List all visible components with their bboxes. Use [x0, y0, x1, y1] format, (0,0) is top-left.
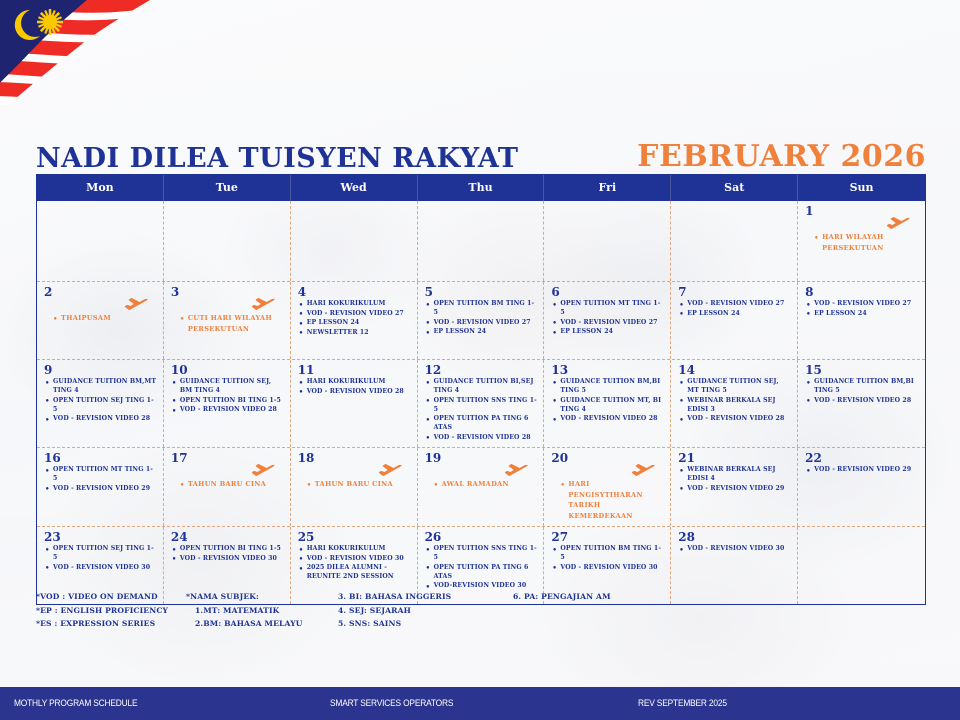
event-item: VOD - REVISION VIDEO 28: [805, 397, 919, 406]
event-list: GUIDANCE TUITION BI,SEJ TING 4OPEN TUITI…: [425, 378, 538, 442]
event-item: EP LESSON 24: [551, 328, 664, 337]
legend-line: *ES : EXPRESSION SERIES: [36, 617, 186, 631]
day-of-week-header-row: Mon Tue Wed Thu Fri Sat Sun: [37, 175, 925, 201]
event-item: TAHUN BARU CINA: [306, 479, 411, 490]
event-item: VOD - REVISION VIDEO 30: [551, 564, 664, 573]
event-item: CUTI HARI WILAYAH PERSEKUTUAN: [179, 313, 284, 334]
event-item: HARI KOKURIKULUM: [298, 300, 411, 309]
page-title: NADI DILEA TUISYEN RAKYAT: [36, 145, 518, 172]
event-item: EP LESSON 24: [805, 310, 919, 319]
day-number: 12: [425, 364, 538, 377]
event-item: VOD - REVISION VIDEO 28: [551, 415, 664, 424]
event-item: NEWSLETTER 12: [298, 329, 411, 338]
calendar-grid: Mon Tue Wed Thu Fri Sat Sun 1HARI WILAYA…: [36, 174, 926, 605]
event-item: VOD - REVISION VIDEO 30: [44, 564, 157, 573]
legend-column-subjects-c: 6. PA: PENGAJIAN AM: [513, 590, 713, 631]
event-item: VOD - REVISION VIDEO 30: [678, 545, 791, 554]
event-item: VOD - REVISION VIDEO 27: [425, 319, 538, 328]
event-item: VOD - REVISION VIDEO 29: [678, 485, 791, 494]
calendar-day-cell-19[interactable]: 19AWAL RAMADAN: [418, 448, 545, 526]
day-number: 28: [678, 531, 791, 544]
event-list: GUIDANCE TUITION BM,MT TING 4OPEN TUITIO…: [44, 378, 157, 424]
event-item: OPEN TUITION SEJ TING 1-5: [44, 545, 157, 563]
event-list: GUIDANCE TUITION SEJ, BM TING 4OPEN TUIT…: [171, 378, 284, 415]
calendar-day-cell-empty[interactable]: [418, 201, 545, 281]
event-item: VOD - REVISION VIDEO 28: [44, 415, 157, 424]
calendar-day-cell-21[interactable]: 21WEBINAR BERKALA SEJ EDISI 4VOD - REVIS…: [671, 448, 798, 526]
day-number: 23: [44, 531, 157, 544]
legend-line: 3. BI: BAHASA INGGERIS: [338, 590, 513, 604]
calendar-day-cell-16[interactable]: 16OPEN TUITION MT TING 1-5VOD - REVISION…: [37, 448, 164, 526]
calendar-day-cell-empty[interactable]: [544, 201, 671, 281]
event-item: HARI KOKURIKULUM: [298, 545, 411, 554]
calendar-day-cell-17[interactable]: 17TAHUN BARU CINA: [164, 448, 291, 526]
event-list: OPEN TUITION MT TING 1-5VOD - REVISION V…: [551, 300, 664, 337]
day-number: 11: [298, 364, 411, 377]
event-item: GUIDANCE TUITION BI,SEJ TING 4: [425, 378, 538, 396]
event-list: OPEN TUITION SNS TING 1-5OPEN TUITION PA…: [425, 545, 538, 591]
legend-column-subjects-a: *NAMA SUBJEK: 1.MT: MATEMATIK 2.BM: BAHA…: [186, 590, 338, 631]
event-list: AWAL RAMADAN: [425, 479, 538, 490]
event-list: WEBINAR BERKALA SEJ EDISI 4VOD - REVISIO…: [678, 466, 791, 493]
month-year-title: FEBRUARY 2026: [637, 142, 926, 172]
day-number: 5: [425, 286, 538, 299]
calendar-day-cell-11[interactable]: 11HARI KOKURIKULUMVOD - REVISION VIDEO 2…: [291, 360, 418, 447]
event-item: VOD - REVISION VIDEO 29: [805, 466, 919, 475]
event-item: VOD - REVISION VIDEO 27: [805, 300, 919, 309]
event-item: OPEN TUITION BI TING 1-5: [171, 397, 284, 406]
event-item: THAIPUSAM: [52, 313, 157, 324]
calendar-day-cell-empty[interactable]: [291, 201, 418, 281]
calendar-day-cell-8[interactable]: 8VOD - REVISION VIDEO 27EP LESSON 24: [798, 282, 925, 359]
event-list: GUIDANCE TUITION SEJ, MT TING 5WEBINAR B…: [678, 378, 791, 424]
calendar-day-cell-1[interactable]: 1HARI WILAYAH PERSEKUTUAN: [798, 201, 925, 281]
event-item: HARI PENGISYTIHARAN TARIKH KEMERDEKAAN: [559, 479, 664, 521]
calendar-day-cell-13[interactable]: 13GUIDANCE TUITION BM,BI TING 5GUIDANCE …: [544, 360, 671, 447]
day-number: 24: [171, 531, 284, 544]
day-number: 9: [44, 364, 157, 377]
calendar-day-cell-18[interactable]: 18TAHUN BARU CINA: [291, 448, 418, 526]
legend-column-subjects-b: 3. BI: BAHASA INGGERIS 4. SEJ: SEJARAH 5…: [338, 590, 513, 631]
day-header-thu: Thu: [418, 175, 545, 201]
event-item: GUIDANCE TUITION BM,BI TING 5: [551, 378, 664, 396]
day-number: 16: [44, 452, 157, 465]
event-item: VOD - REVISION VIDEO 27: [298, 310, 411, 319]
event-list: GUIDANCE TUITION BM,BI TING 5VOD - REVIS…: [805, 378, 919, 405]
day-header-sun: Sun: [798, 175, 925, 201]
calendar-week-row: 2THAIPUSAM3CUTI HARI WILAYAH PERSEKUTUAN…: [37, 281, 925, 359]
event-list: OPEN TUITION BM TING 1-5VOD - REVISION V…: [551, 545, 664, 572]
calendar-weeks: 1HARI WILAYAH PERSEKUTUAN2THAIPUSAM3CUTI…: [37, 201, 925, 604]
calendar-day-cell-empty[interactable]: [164, 201, 291, 281]
event-item: HARI WILAYAH PERSEKUTUAN: [813, 232, 919, 253]
day-header-tue: Tue: [164, 175, 291, 201]
calendar-day-cell-empty[interactable]: [37, 201, 164, 281]
day-number: 21: [678, 452, 791, 465]
event-item: WEBINAR BERKALA SEJ EDISI 3: [678, 397, 791, 415]
airplane-icon: [250, 294, 276, 314]
day-number: 10: [171, 364, 284, 377]
event-list: VOD - REVISION VIDEO 27EP LESSON 24: [805, 300, 919, 318]
event-list: VOD - REVISION VIDEO 30: [678, 545, 791, 554]
event-item: VOD - REVISION VIDEO 28: [298, 388, 411, 397]
day-number: 14: [678, 364, 791, 377]
event-item: GUIDANCE TUITION MT, BI TING 4: [551, 397, 664, 415]
event-item: VOD - REVISION VIDEO 30: [298, 555, 411, 564]
airplane-icon: [503, 460, 529, 480]
day-number: 13: [551, 364, 664, 377]
event-item: OPEN TUITION BM TING 1-5: [425, 300, 538, 318]
event-item: OPEN TUITION MT TING 1-5: [551, 300, 664, 318]
calendar-day-cell-3[interactable]: 3CUTI HARI WILAYAH PERSEKUTUAN: [164, 282, 291, 359]
event-list: VOD - REVISION VIDEO 27EP LESSON 24: [678, 300, 791, 318]
event-list: OPEN TUITION MT TING 1-5VOD - REVISION V…: [44, 466, 157, 493]
event-item: GUIDANCE TUITION SEJ, BM TING 4: [171, 378, 284, 396]
event-list: GUIDANCE TUITION BM,BI TING 5GUIDANCE TU…: [551, 378, 664, 424]
event-item: 2025 DILEA ALUMNI - REUNITE 2ND SESSION: [298, 564, 411, 582]
calendar-week-row: 1HARI WILAYAH PERSEKUTUAN: [37, 201, 925, 281]
day-number: 7: [678, 286, 791, 299]
event-item: VOD - REVISION VIDEO 30: [171, 555, 284, 564]
event-item: HARI KOKURIKULUM: [298, 378, 411, 387]
event-list: VOD - REVISION VIDEO 29: [805, 466, 919, 475]
footer-right-label: REV SEPTEMBER 2025: [638, 698, 727, 709]
calendar-day-cell-20[interactable]: 20HARI PENGISYTIHARAN TARIKH KEMERDEKAAN: [544, 448, 671, 526]
airplane-icon: [250, 460, 276, 480]
event-list: OPEN TUITION SEJ TING 1-5VOD - REVISION …: [44, 545, 157, 572]
event-item: OPEN TUITION PA TING 6 ATAS: [425, 415, 538, 433]
event-list: THAIPUSAM: [44, 313, 157, 324]
calendar-header: NADI DILEA TUISYEN RAKYAT FEBRUARY 2026: [36, 132, 926, 172]
event-item: OPEN TUITION PA TING 6 ATAS: [425, 564, 538, 582]
malaysia-flag: [0, 0, 190, 105]
legend-line: *NAMA SUBJEK:: [186, 590, 338, 604]
day-number: 27: [551, 531, 664, 544]
calendar-week-row: 9GUIDANCE TUITION BM,MT TING 4OPEN TUITI…: [37, 359, 925, 447]
legend: *VOD : VIDEO ON DEMAND *EP : ENGLISH PRO…: [36, 590, 926, 631]
event-item: GUIDANCE TUITION BM,BI TING 5: [805, 378, 919, 396]
legend-line: *EP : ENGLISH PROFICIENCY: [36, 604, 186, 618]
event-item: OPEN TUITION BM TING 1-5: [551, 545, 664, 563]
event-item: OPEN TUITION SNS TING 1-5: [425, 545, 538, 563]
event-item: GUIDANCE TUITION BM,MT TING 4: [44, 378, 157, 396]
day-number: 22: [805, 452, 919, 465]
event-list: TAHUN BARU CINA: [298, 479, 411, 490]
day-number: 4: [298, 286, 411, 299]
legend-line: 5. SNS: SAINS: [338, 617, 513, 631]
day-number: 26: [425, 531, 538, 544]
legend-line: *VOD : VIDEO ON DEMAND: [36, 590, 186, 604]
footer-center-label: SMART SERVICES OPERATORS: [330, 698, 453, 709]
calendar-page: NADI DILEA TUISYEN RAKYAT FEBRUARY 2026 …: [0, 0, 960, 720]
event-list: OPEN TUITION BM TING 1-5VOD - REVISION V…: [425, 300, 538, 337]
calendar-day-cell-5[interactable]: 5OPEN TUITION BM TING 1-5VOD - REVISION …: [418, 282, 545, 359]
event-list: HARI KOKURIKULUMVOD - REVISION VIDEO 302…: [298, 545, 411, 582]
event-item: VOD - REVISION VIDEO 29: [44, 485, 157, 494]
day-header-mon: Mon: [37, 175, 164, 201]
event-list: CUTI HARI WILAYAH PERSEKUTUAN: [171, 313, 284, 334]
calendar-day-cell-6[interactable]: 6OPEN TUITION MT TING 1-5VOD - REVISION …: [544, 282, 671, 359]
event-item: VOD - REVISION VIDEO 27: [551, 319, 664, 328]
calendar-day-cell-4[interactable]: 4HARI KOKURIKULUMVOD - REVISION VIDEO 27…: [291, 282, 418, 359]
event-item: TAHUN BARU CINA: [179, 479, 284, 490]
event-list: HARI KOKURIKULUMVOD - REVISION VIDEO 27E…: [298, 300, 411, 337]
day-number: 6: [551, 286, 664, 299]
calendar-day-cell-15[interactable]: 15GUIDANCE TUITION BM,BI TING 5VOD - REV…: [798, 360, 925, 447]
footer-left-label: MOTHLY PROGRAM SCHEDULE: [14, 698, 137, 709]
event-item: VOD - REVISION VIDEO 28: [425, 434, 538, 443]
calendar-day-cell-10[interactable]: 10GUIDANCE TUITION SEJ, BM TING 4OPEN TU…: [164, 360, 291, 447]
event-item: VOD - REVISION VIDEO 28: [678, 415, 791, 424]
footer-bar: MOTHLY PROGRAM SCHEDULE SMART SERVICES O…: [0, 687, 960, 720]
event-item: WEBINAR BERKALA SEJ EDISI 4: [678, 466, 791, 484]
calendar-week-row: 16OPEN TUITION MT TING 1-5VOD - REVISION…: [37, 447, 925, 526]
day-header-sat: Sat: [671, 175, 798, 201]
day-number: 25: [298, 531, 411, 544]
calendar-day-cell-22[interactable]: 22VOD - REVISION VIDEO 29: [798, 448, 925, 526]
event-item: OPEN TUITION MT TING 1-5: [44, 466, 157, 484]
event-item: EP LESSON 24: [678, 310, 791, 319]
event-item: VOD - REVISION VIDEO 28: [171, 406, 284, 415]
day-number: 15: [805, 364, 919, 377]
airplane-icon: [630, 460, 656, 480]
day-header-fri: Fri: [544, 175, 671, 201]
event-item: GUIDANCE TUITION SEJ, MT TING 5: [678, 378, 791, 396]
legend-line: 1.MT: MATEMATIK: [186, 604, 338, 618]
calendar-day-cell-empty[interactable]: [671, 201, 798, 281]
event-item: AWAL RAMADAN: [433, 479, 538, 490]
event-item: EP LESSON 24: [298, 319, 411, 328]
calendar-day-cell-14[interactable]: 14GUIDANCE TUITION SEJ, MT TING 5WEBINAR…: [671, 360, 798, 447]
airplane-icon: [377, 460, 403, 480]
calendar-day-cell-12[interactable]: 12GUIDANCE TUITION BI,SEJ TING 4OPEN TUI…: [418, 360, 545, 447]
calendar-day-cell-2[interactable]: 2THAIPUSAM: [37, 282, 164, 359]
event-item: OPEN TUITION SEJ TING 1-5: [44, 397, 157, 415]
event-list: TAHUN BARU CINA: [171, 479, 284, 490]
day-header-wed: Wed: [291, 175, 418, 201]
day-number: 8: [805, 286, 919, 299]
legend-line: 6. PA: PENGAJIAN AM: [513, 590, 713, 604]
legend-line: 2.BM: BAHASA MELAYU: [186, 617, 338, 631]
calendar-day-cell-9[interactable]: 9GUIDANCE TUITION BM,MT TING 4OPEN TUITI…: [37, 360, 164, 447]
event-item: VOD - REVISION VIDEO 27: [678, 300, 791, 309]
event-item: EP LESSON 24: [425, 328, 538, 337]
event-list: HARI KOKURIKULUMVOD - REVISION VIDEO 28: [298, 378, 411, 396]
event-list: OPEN TUITION BI TING 1-5VOD - REVISION V…: [171, 545, 284, 563]
event-item: OPEN TUITION BI TING 1-5: [171, 545, 284, 554]
event-item: OPEN TUITION SNS TING 1-5: [425, 397, 538, 415]
legend-line: 4. SEJ: SEJARAH: [338, 604, 513, 618]
event-list: HARI WILAYAH PERSEKUTUAN: [805, 232, 919, 253]
airplane-icon: [885, 213, 911, 233]
calendar-day-cell-7[interactable]: 7VOD - REVISION VIDEO 27EP LESSON 24: [671, 282, 798, 359]
legend-column-abbreviations: *VOD : VIDEO ON DEMAND *EP : ENGLISH PRO…: [36, 590, 186, 631]
event-list: HARI PENGISYTIHARAN TARIKH KEMERDEKAAN: [551, 479, 664, 521]
airplane-icon: [123, 294, 149, 314]
